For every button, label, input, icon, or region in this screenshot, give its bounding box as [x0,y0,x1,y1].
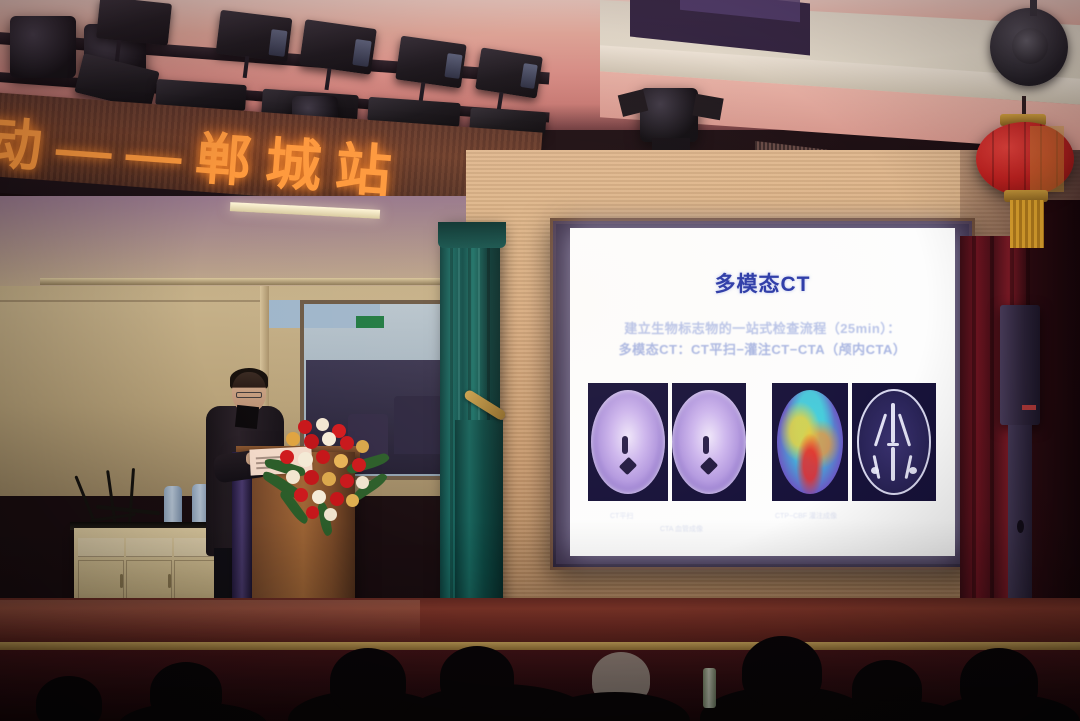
flower-arrangement [272,418,382,530]
presentation-slide: 多模态CT 建立生物标志物的一站式检查流程（25min）： 多模态CT：CT平扫… [570,228,955,556]
photo-scene: 动——郸城站 多模态CT 建立生物标志物的一站式检查流程（25min）： 多模态… [0,0,1080,721]
slide-image-row [586,383,939,503]
slide-body-line-2: 多模态CT：CT平扫−灌注CT−CTA（颅内CTA） [570,339,955,358]
lantern-gold-panel [1030,126,1064,192]
eyeglasses-icon [236,392,262,398]
chair-silhouette-1 [394,396,442,454]
moving-head-light-wing-2 [692,94,723,121]
exit-sign-icon [356,316,384,328]
stage-light-icon-3 [96,0,172,46]
pa-speaker-badge [1022,405,1036,410]
stage-light-lens-4 [268,29,287,57]
brain-ct-render-2 [672,390,746,494]
presenter-collar [235,405,259,429]
ctp-perfusion-image [772,383,848,501]
ceiling-speaker-mount [1030,0,1037,16]
lantern-tassel [1010,200,1044,248]
slide-title: 多模态CT [570,268,955,298]
audience-head-7 [36,676,102,721]
brain-ct-render-1 [591,390,665,494]
moving-head-light-icon [640,88,698,142]
audience-water-bottle-icon [703,668,716,708]
brain-cta-render [857,389,931,495]
audience-head-1 [330,648,406,714]
slide-caption-1: CT平扫 [610,511,633,521]
cta-vessel-image [852,383,936,501]
ct-scan-image-1 [588,383,668,501]
wall-rail [40,278,470,285]
slide-body-line-1: 建立生物标志物的一站式检查流程（25min）： [570,318,955,337]
slide-caption-3: CTA 血管成像 [660,524,703,534]
brain-ctp-render [777,390,843,494]
audience-head-2 [440,646,514,708]
stage-floor-reflection [0,600,420,644]
slide-caption-2: CTP−CBF 灌注成像 [775,511,837,521]
curtain-header [438,222,506,248]
ct-scan-image-2 [672,383,746,501]
stage-light-icon-1 [10,16,76,78]
pa-speaker-port [1017,520,1024,533]
ceiling-speaker-cone [1012,28,1048,64]
audience-head-3 [742,636,822,706]
thermos-icon-1 [164,486,182,526]
